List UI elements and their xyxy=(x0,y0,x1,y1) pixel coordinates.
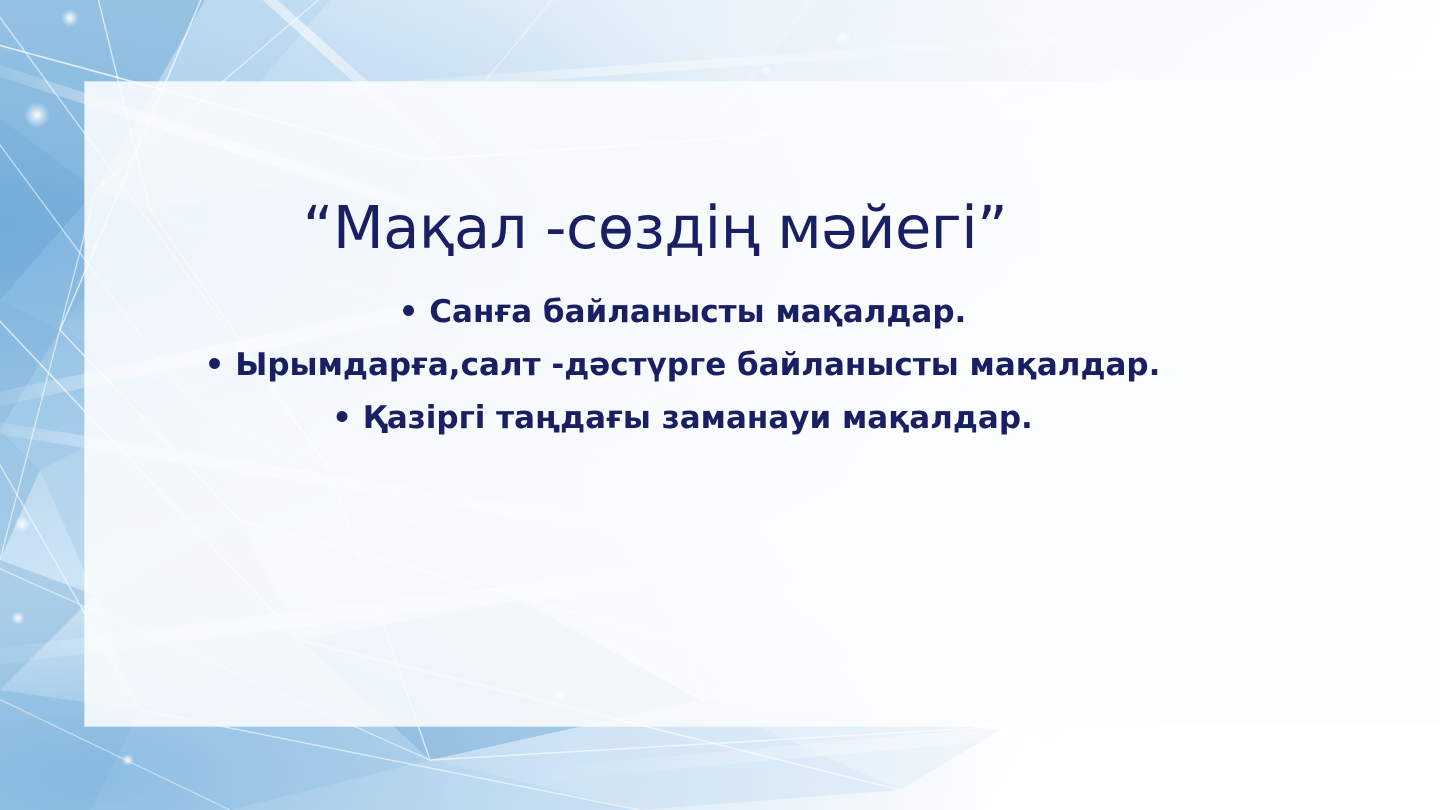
bullet-list: • Санға байланысты мақалдар. • Ырымдарға… xyxy=(85,286,1280,445)
list-item-label: Қазіргі таңдағы заманауи мақалдар. xyxy=(363,400,1033,436)
bullet-dot-icon: • xyxy=(205,347,225,383)
content-panel: “Мақал -сөздің мәйегі” • Санға байланыст… xyxy=(85,82,1440,726)
bullet-dot-icon: • xyxy=(332,400,352,436)
list-item: • Санға байланысты мақалдар. xyxy=(85,286,1280,339)
list-item: • Қазіргі таңдағы заманауи мақалдар. xyxy=(85,392,1280,445)
list-item-label: Ырымдарға,салт -дәстүрге байланысты мақа… xyxy=(235,347,1160,383)
list-item-label: Санға байланысты мақалдар. xyxy=(429,294,966,330)
content-panel-inner: “Мақал -сөздің мәйегі” • Санға байланыст… xyxy=(85,82,1440,726)
page-title: “Мақал -сөздің мәйегі” xyxy=(85,198,1225,258)
bullet-dot-icon: • xyxy=(399,294,419,330)
list-item: • Ырымдарға,салт -дәстүрге байланысты ма… xyxy=(85,339,1280,392)
presentation-slide: “Мақал -сөздің мәйегі” • Санға байланыст… xyxy=(0,0,1440,810)
